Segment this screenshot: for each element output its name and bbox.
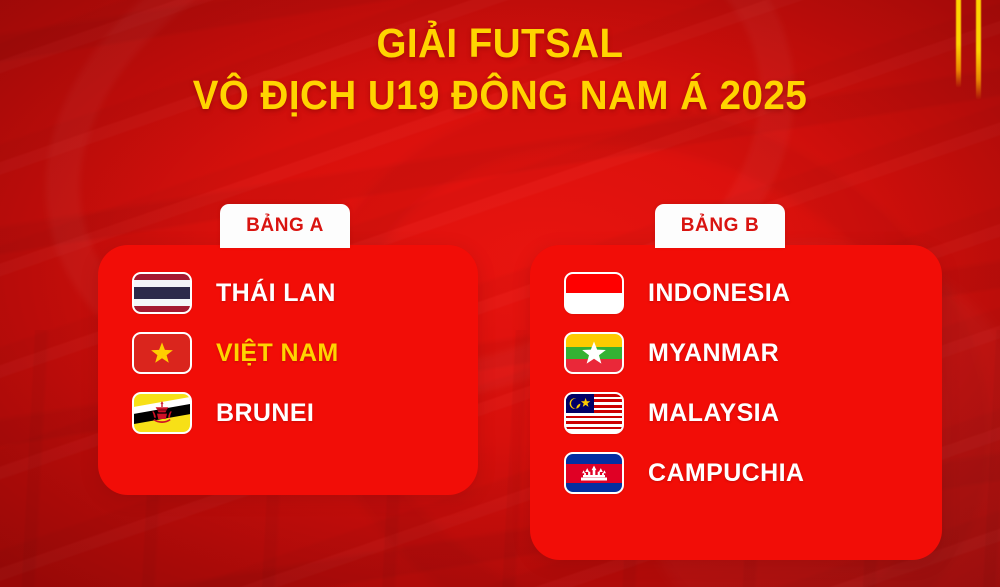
- team-row[interactable]: VIỆT NAM: [98, 323, 478, 383]
- group-tab-a-label: BẢNG A: [246, 215, 324, 237]
- group-tab-a[interactable]: BẢNG A: [220, 204, 350, 248]
- team-name: MYANMAR: [648, 339, 779, 368]
- team-name: CAMPUCHIA: [648, 459, 804, 488]
- flag-malaysia: [566, 394, 622, 432]
- crescent-and-star-icon: [568, 396, 594, 411]
- group-card-a: THÁI LAN VIỆT NAM: [98, 245, 478, 495]
- team-name: INDONESIA: [648, 279, 791, 308]
- team-name: MALAYSIA: [648, 399, 779, 428]
- team-row[interactable]: BRUNEI: [98, 383, 478, 443]
- brunei-crest-icon: [147, 400, 177, 426]
- angkor-wat-icon: [579, 465, 609, 482]
- team-name: BRUNEI: [216, 399, 314, 428]
- page-title: GIẢI FUTSAL VÔ ĐỊCH U19 ĐÔNG NAM Á 2025: [0, 22, 1000, 118]
- flag-indonesia: [566, 274, 622, 312]
- team-name: THÁI LAN: [216, 279, 336, 308]
- tournament-group-draw-graphic: GIẢI FUTSAL VÔ ĐỊCH U19 ĐÔNG NAM Á 2025 …: [0, 0, 1000, 587]
- group-card-b: INDONESIA MYANMAR: [530, 245, 942, 560]
- flag-cambodia: [566, 454, 622, 492]
- team-row[interactable]: MYANMAR: [530, 323, 942, 383]
- group-tab-b-label: BẢNG B: [681, 215, 760, 237]
- gold-star-icon: [150, 341, 174, 365]
- title-line-2: VÔ ĐỊCH U19 ĐÔNG NAM Á 2025: [30, 74, 970, 117]
- team-row[interactable]: CAMPUCHIA: [530, 443, 942, 503]
- title-line-1: GIẢI FUTSAL: [30, 22, 970, 65]
- group-tab-b[interactable]: BẢNG B: [655, 204, 785, 248]
- team-row[interactable]: THÁI LAN: [98, 263, 478, 323]
- flag-myanmar: [566, 334, 622, 372]
- white-star-icon: [581, 340, 607, 366]
- team-name: VIỆT NAM: [216, 339, 339, 368]
- flag-thailand: [134, 274, 190, 312]
- team-row[interactable]: MALAYSIA: [530, 383, 942, 443]
- flag-vietnam: [134, 334, 190, 372]
- team-row[interactable]: INDONESIA: [530, 263, 942, 323]
- flag-brunei: [134, 394, 190, 432]
